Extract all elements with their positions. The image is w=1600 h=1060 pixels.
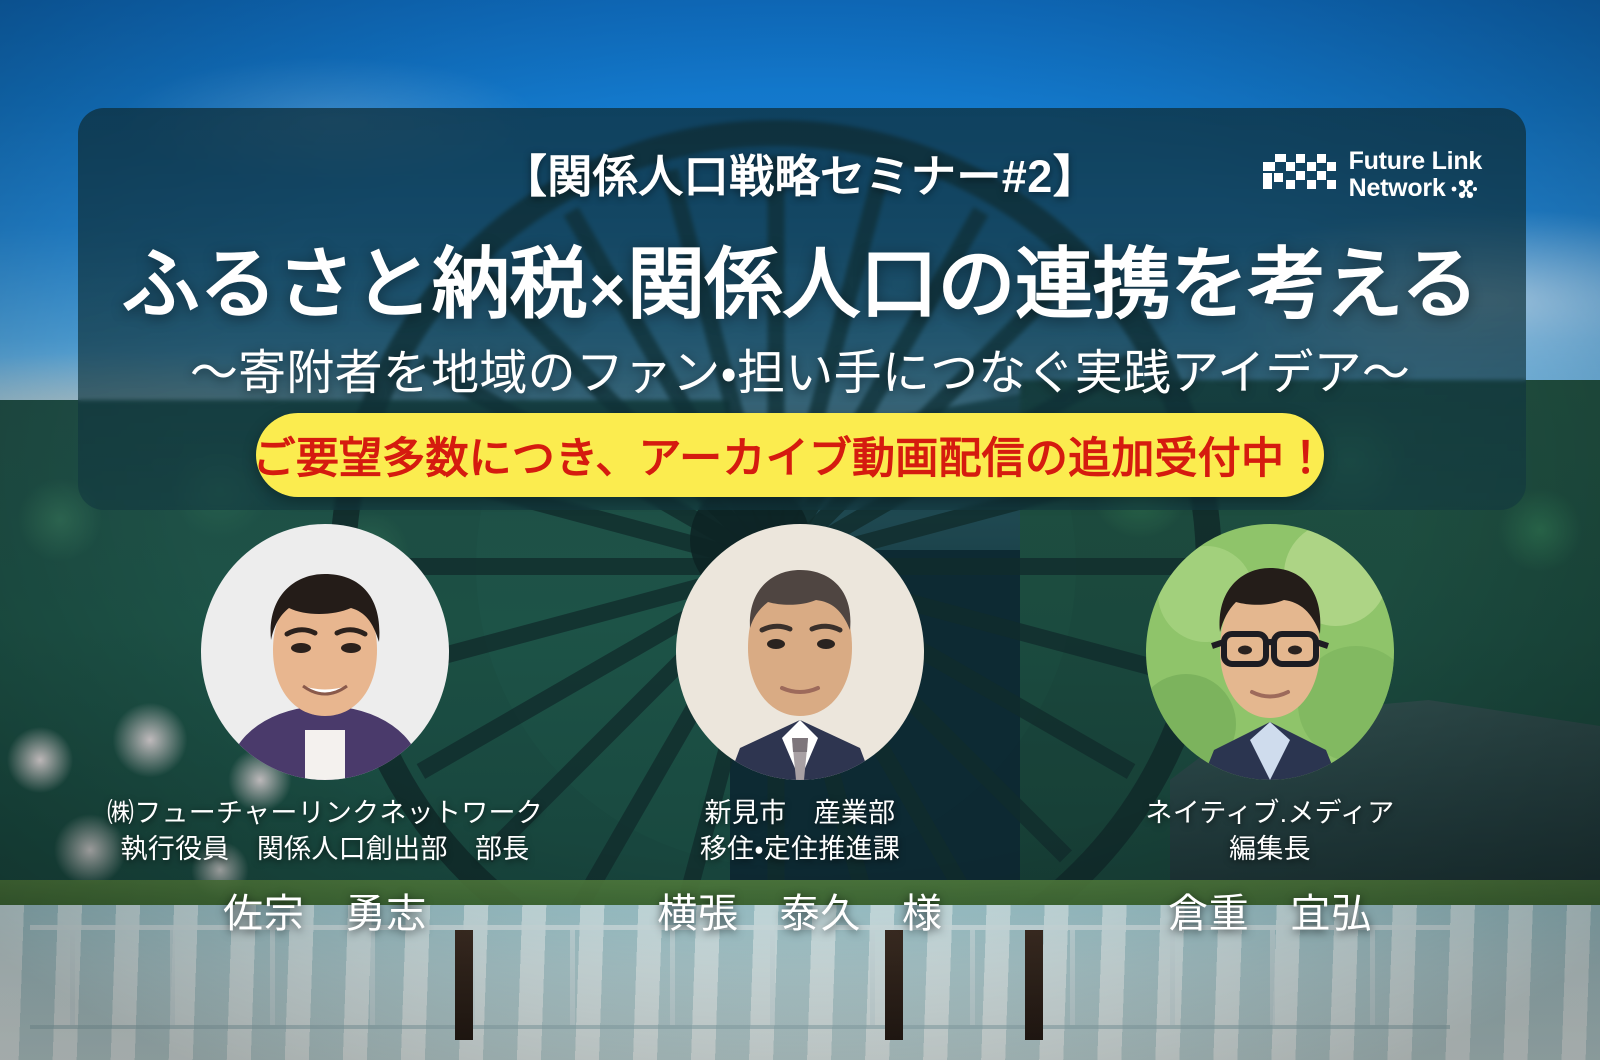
speaker-name: 倉重 宜弘 (1040, 881, 1500, 939)
avatar (676, 524, 924, 780)
speaker-photo-kurashige (1146, 524, 1394, 780)
network-dot-mark (1451, 179, 1477, 199)
speaker-card: ㈱フューチャーリンクネットワーク 執行役員 関係人口創出部 部長 佐宗 勇志 (95, 524, 555, 939)
speaker-photo-sasou (201, 524, 449, 780)
speaker-affiliation: ㈱フューチャーリンクネットワーク 執行役員 関係人口創出部 部長 (95, 796, 555, 867)
speaker-affiliation-line2: 執行役員 関係人口創出部 部長 (95, 832, 555, 868)
avatar (201, 524, 449, 780)
logo-text-line1: Future Link (1349, 148, 1482, 175)
archive-announcement-text: ご要望多数につき、アーカイブ動画配信の追加受付中！ (253, 424, 1328, 486)
headline-segment-2: 関係人口の連携を考える (627, 240, 1478, 328)
seminar-banner: 【関係人口戦略セミナー#2】 Future Link (0, 0, 1600, 1060)
speaker-name: 横張 泰久 様 (570, 881, 1030, 939)
speaker-card: ネイティブ.メディア 編集長 倉重 宜弘 (1040, 524, 1500, 939)
speaker-affiliation-line2: 編集長 (1040, 832, 1500, 868)
speaker-name: 佐宗 勇志 (95, 881, 555, 939)
speaker-affiliation-line1: ㈱フューチャーリンクネットワーク (107, 798, 543, 828)
speaker-affiliation-line1: ネイティブ.メディア (1145, 798, 1394, 828)
speaker-affiliation-line2: 移住・定住推進課 (570, 832, 1030, 868)
archive-announcement-badge: ご要望多数につき、アーカイブ動画配信の追加受付中！ (256, 413, 1324, 497)
speaker-affiliation-line1: 新見市 産業部 (705, 798, 896, 828)
headline-segment-1: ふるさと納税 (122, 240, 588, 328)
speaker-affiliation: ネイティブ.メディア 編集長 (1040, 796, 1500, 867)
page-title: ふるさと納税×関係人口の連携を考える (0, 222, 1600, 334)
future-link-network-logo: Future Link Network (1263, 148, 1482, 202)
speaker-list: ㈱フューチャーリンクネットワーク 執行役員 関係人口創出部 部長 佐宗 勇志 (0, 524, 1600, 944)
fln-logo-mark (1263, 152, 1337, 198)
logo-text-line2: Network (1349, 175, 1446, 202)
speaker-card: 新見市 産業部 移住・定住推進課 横張 泰久 様 (570, 524, 1030, 939)
speaker-affiliation: 新見市 産業部 移住・定住推進課 (570, 796, 1030, 867)
headline-cross-symbol: × (587, 256, 627, 325)
speaker-photo-yokohari (676, 524, 924, 780)
page-subtitle: 〜寄附者を地域のファン・担い手につなぐ実践アイデア〜 (0, 333, 1600, 403)
avatar (1146, 524, 1394, 780)
